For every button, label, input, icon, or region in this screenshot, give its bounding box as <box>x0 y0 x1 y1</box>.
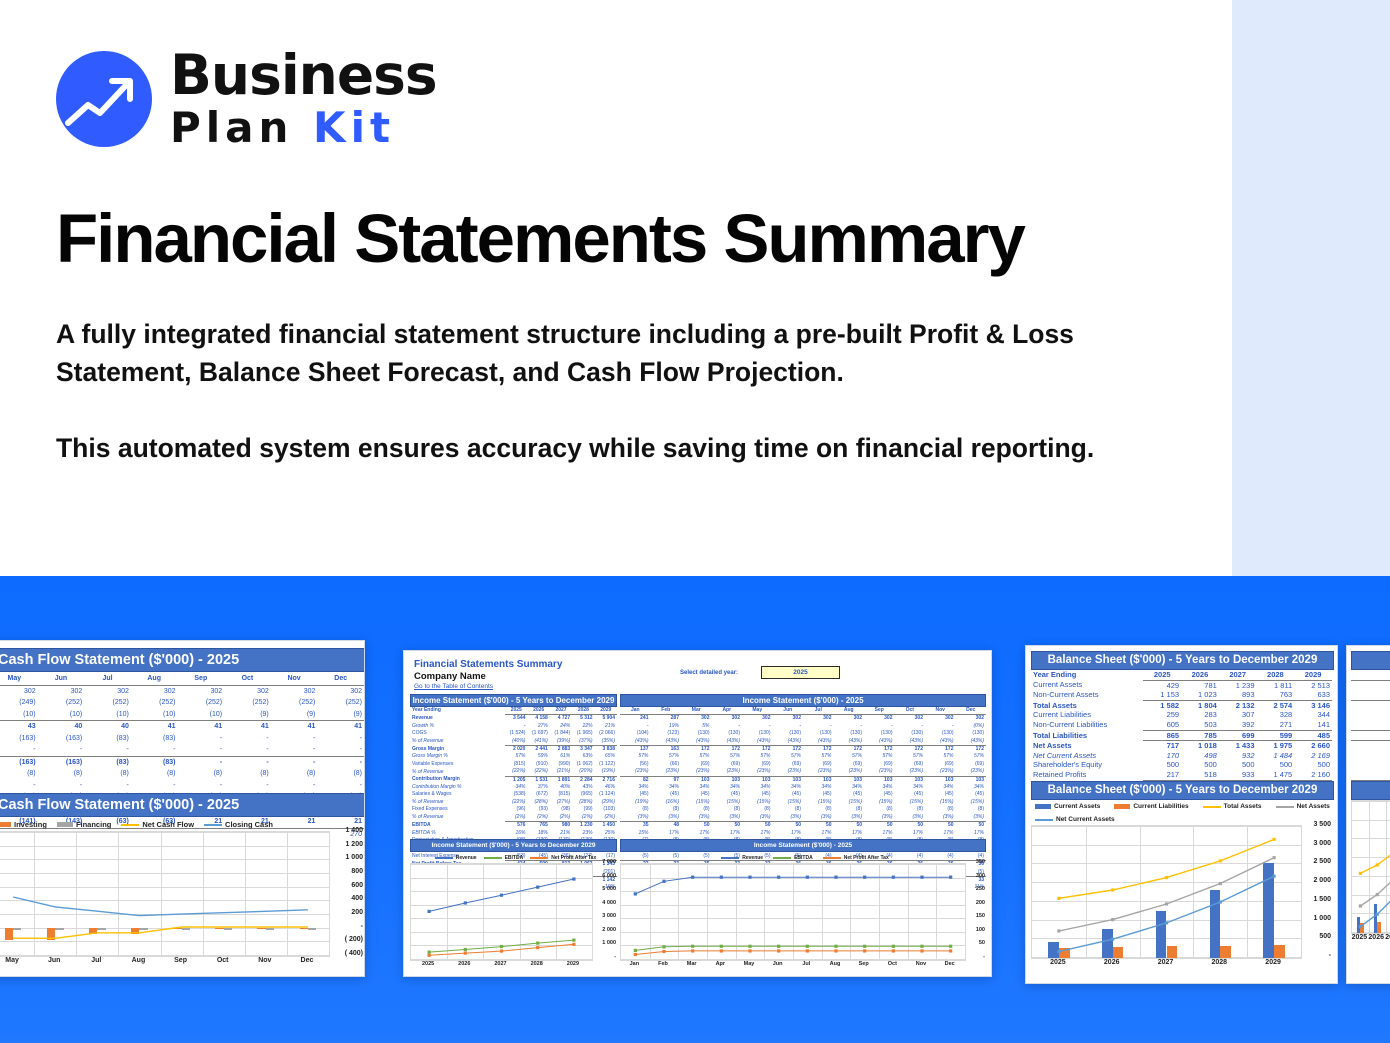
plot-frame <box>0 831 330 957</box>
table-cell: (123) <box>651 730 682 737</box>
table-cell: 429 <box>1143 680 1181 690</box>
table-cell: 43% <box>572 784 594 791</box>
table-cell: 699 <box>1219 730 1257 741</box>
table-cell: 1 531 <box>527 776 549 784</box>
x-axis-tick: Oct <box>202 957 244 964</box>
table-cell: - <box>505 723 527 730</box>
column-header: Apr <box>712 707 743 715</box>
table-row: 93 <box>1351 710 1390 720</box>
table-row: 4340404141414141 <box>0 721 364 733</box>
legend-swatch <box>530 857 548 859</box>
table-row: (45)(45)(45)(45)(45)(45)(45)(45)(45)(45)… <box>620 791 986 798</box>
table-cell: 5 904 <box>595 715 617 723</box>
table-cell: - <box>131 744 178 756</box>
table-cell: 172 <box>925 746 956 754</box>
table-cell: (252) <box>271 697 318 709</box>
table-cell: (69) <box>773 761 804 768</box>
table-cell: (3%) <box>895 814 926 822</box>
income-2025-table-title: Income Statement ($'000) - 2025 <box>620 694 986 707</box>
column-header: 2029 <box>1294 670 1332 680</box>
table-cell: 34% <box>895 784 926 791</box>
table-cell: 4 158 <box>527 715 549 723</box>
table-cell: 302 <box>742 715 773 723</box>
table-cell: (45) <box>773 791 804 798</box>
table-cell: (45) <box>895 791 926 798</box>
table-cell: 137 <box>620 746 651 754</box>
table-cell: 163 <box>651 746 682 754</box>
table-cell: 50 <box>895 822 926 830</box>
table-cell: 172 <box>742 746 773 754</box>
table-cell: (8) <box>864 806 895 813</box>
table-cell: - <box>0 744 38 756</box>
table-cell: (27%) <box>550 799 572 806</box>
table-cell: 1 174 <box>1351 680 1390 690</box>
x-axis-tick: Jun <box>763 961 792 967</box>
brand-plan-word: Plan <box>170 103 293 152</box>
chart-lines <box>1032 826 1301 958</box>
table-cell: - <box>834 723 865 730</box>
x-axis-tick: 2026 <box>1368 934 1385 941</box>
table-cell: (69) <box>864 761 895 768</box>
y-axis-tick: 2 500 <box>1302 858 1331 865</box>
table-cell: 302 <box>0 685 38 697</box>
brand-kit-word: Kit <box>313 103 395 152</box>
table-cell: (69) <box>834 761 865 768</box>
table-cell: (22%) <box>527 768 549 776</box>
table-cell: 50 <box>925 822 956 830</box>
table-cell: (19%) <box>620 799 651 806</box>
table-cell: - <box>620 723 651 730</box>
table-cell: 103 <box>712 776 743 784</box>
table-cell: 302 <box>178 685 225 697</box>
column-header: 2026 <box>1181 670 1219 680</box>
table-cell: 692 <box>1351 720 1390 730</box>
table-cell: (3%) <box>773 814 804 822</box>
table-cell: 24% <box>550 723 572 730</box>
table-cell: 302 <box>131 685 178 697</box>
legend-label: Net Current Assets <box>1056 816 1115 823</box>
table-cell: (3%) <box>834 814 865 822</box>
x-axis-tick: Jul <box>75 957 117 964</box>
table-cell: - <box>317 733 364 745</box>
legend-swatch <box>121 824 139 826</box>
table-cell: (45) <box>956 791 987 798</box>
x-axis-tick: Aug <box>821 961 850 967</box>
table-cell: (8) <box>895 806 926 813</box>
table-cell: 1 081 <box>1351 751 1390 761</box>
x-axis-tick: 2025 <box>410 961 446 967</box>
column-header: 2025 <box>505 707 527 715</box>
x-axis-tick: Feb <box>649 961 678 967</box>
table-cell: 172 <box>834 746 865 754</box>
table-cell: 17% <box>803 830 834 837</box>
table-cell: 3 146 <box>1294 700 1332 710</box>
table-row: EBITDA %16%18%21%23%25% <box>410 830 617 837</box>
row-label: Net Current Assets <box>1031 751 1143 761</box>
table-cell: (43%) <box>803 738 834 746</box>
legend-item: Financing <box>57 820 111 829</box>
table-cell: 50 <box>773 822 804 830</box>
table-cell: (10) <box>178 709 225 721</box>
table-cell: 4 727 <box>550 715 572 723</box>
table-cell: 25% <box>595 830 617 837</box>
table-cell: 1 018 <box>1181 741 1219 751</box>
table-cell: 50 <box>803 822 834 830</box>
table-cell: (3%) <box>925 814 956 822</box>
table-cell: (43%) <box>956 738 987 746</box>
table-cell: 103 <box>925 776 956 784</box>
table-cell: 103 <box>742 776 773 784</box>
table-cell: (15%) <box>803 799 834 806</box>
table-cell: 17% <box>712 830 743 837</box>
y-axis-tick: 3 500 <box>1302 821 1331 828</box>
x-axis-tick: 2027 <box>482 961 518 967</box>
table-row: Gross Margin %57%59%61%63%65% <box>410 753 617 760</box>
column-header: Jan <box>620 707 651 715</box>
table-cell: 5 312 <box>572 715 594 723</box>
x-axis-tick: May <box>0 957 33 964</box>
row-label: Gross Margin % <box>410 753 505 760</box>
table-cell: 283 <box>1181 710 1219 720</box>
table-cell: (16%) <box>651 799 682 806</box>
table-cell: (3%) <box>712 814 743 822</box>
row-label: % of Revenue <box>410 814 505 822</box>
table-row: Revenue3 5444 1584 7275 3125 904 <box>410 715 617 723</box>
table-cell: (990) <box>550 761 572 768</box>
table-cell: (3%) <box>620 814 651 822</box>
select-year-input[interactable]: 2025 <box>761 666 840 679</box>
legend-swatch <box>721 857 739 859</box>
y-axis-tick: 100 <box>966 927 985 933</box>
y-axis-tick: 2 000 <box>593 927 616 933</box>
table-cell: 271 <box>1257 720 1295 730</box>
table-cell: 500 <box>1181 760 1219 770</box>
cashflow-chart-title: Cash Flow Statement ($'000) - 2025 <box>0 793 365 817</box>
table-cell: 302 <box>925 715 956 723</box>
table-cell: (252) <box>131 697 178 709</box>
column-header: Feb <box>651 707 682 715</box>
row-label: EBITDA <box>410 822 505 830</box>
table-cell: (1 965) <box>572 730 594 737</box>
table-row: % of Revenue(22%)(22%)(21%)(20%)(19%) <box>410 768 617 776</box>
x-axis-tick: Jan <box>620 961 649 967</box>
table-cell: (3%) <box>681 814 712 822</box>
table-row: 137163172172172172172172172172172172 <box>620 746 986 754</box>
table-cell: - <box>224 733 271 745</box>
table-cell: (163) <box>38 756 85 768</box>
table-cell: (15%) <box>773 799 804 806</box>
column-header: 2028 <box>572 707 594 715</box>
legend-swatch <box>1276 806 1294 808</box>
column-header-label: Year Ending <box>1031 670 1143 680</box>
table-cell: 2 883 <box>550 746 572 754</box>
income-company-name: Company Name <box>414 671 486 682</box>
y-axis-tick: 3 000 <box>1302 840 1331 847</box>
y-axis-tick: - <box>593 954 616 960</box>
table-cell: (37%) <box>572 738 594 746</box>
table-row: (249)(252)(252)(252)(252)(252)(252)(252) <box>0 697 364 709</box>
chart-lines <box>1352 801 1390 933</box>
column-header: Jul <box>84 673 131 685</box>
table-cell: 1 230 <box>572 822 594 830</box>
table-cell: (1 524) <box>505 730 527 737</box>
table-cell: 34% <box>651 784 682 791</box>
balance-monthly-chart-title <box>1351 781 1390 800</box>
table-cell: (69) <box>712 761 743 768</box>
table-cell: 2 160 <box>1294 770 1332 780</box>
table-cell: (45) <box>864 791 895 798</box>
table-cell: 15% <box>620 830 651 837</box>
table-cell: (43%) <box>895 738 926 746</box>
y-axis-tick: 2 000 <box>1302 877 1331 884</box>
table-cell: (10) <box>0 709 38 721</box>
table-cell: 34% <box>956 784 987 791</box>
table-cell: (23%) <box>773 768 804 776</box>
table-row: Net Current Assets1704989321 4842 169 <box>1031 751 1332 761</box>
table-cell: 1 891 <box>550 776 572 784</box>
y-axis-tick: 400 <box>330 895 363 902</box>
table-cell: (8) <box>773 806 804 813</box>
table-cell: 1 153 <box>1143 690 1181 700</box>
table-cell: 103 <box>864 776 895 784</box>
table-cell: 57% <box>712 753 743 760</box>
legend-item: Revenue <box>435 855 477 861</box>
table-cell: (23%) <box>803 768 834 776</box>
table-cell: 765 <box>527 822 549 830</box>
table-cell: (69) <box>803 761 834 768</box>
row-label: Net Assets <box>1031 741 1143 751</box>
table-cell: (69) <box>895 761 926 768</box>
legend-label: Revenue <box>742 855 763 861</box>
table-cell: - <box>773 723 804 730</box>
cashflow-chart: InvestingFinancingNet Cash FlowClosing C… <box>0 817 364 975</box>
table-cell: 57% <box>505 753 527 760</box>
table-cell: (20%) <box>572 768 594 776</box>
table-cell: (83) <box>84 733 131 745</box>
table-cell: 1 023 <box>1181 690 1219 700</box>
table-cell: 576 <box>505 822 527 830</box>
table-cell: 328 <box>1257 710 1295 720</box>
table-cell: 57% <box>834 753 865 760</box>
y-axis-tick: - <box>330 923 363 930</box>
table-cell: (45) <box>834 791 865 798</box>
table-cell: - <box>224 744 271 756</box>
table-cell: (1 122) <box>595 761 617 768</box>
x-axis-tick: 2027 <box>1139 959 1193 966</box>
table-cell: (252) <box>84 697 131 709</box>
table-cell: 302 <box>681 715 712 723</box>
table-cell: - <box>224 780 271 792</box>
y-axis-tick: 5 000 <box>593 886 616 892</box>
table-cell: 933 <box>1219 770 1257 780</box>
table-cell: 57% <box>651 753 682 760</box>
legend-label: Net Profit After Tax <box>551 855 596 861</box>
table-row: 1 081 <box>1351 751 1390 761</box>
table-row: Contribution Margin1 2051 5311 8912 2842… <box>410 776 617 784</box>
row-label: Salaries & Wages <box>410 791 505 798</box>
table-cell: 12 <box>1351 770 1390 780</box>
table-cell: (1 062) <box>572 761 594 768</box>
table-cell: (45) <box>681 791 712 798</box>
y-axis-tick: 50 <box>966 940 985 946</box>
table-cell: 1 475 <box>1257 770 1295 780</box>
row-label: Fixed Expenses <box>410 806 505 813</box>
table-row: EBITDA5767659801 2301 450 <box>410 822 617 830</box>
legend-swatch <box>0 822 11 827</box>
table-cell: 1 450 <box>595 822 617 830</box>
table-cell: 57% <box>895 753 926 760</box>
table-cell: (15%) <box>681 799 712 806</box>
table-cell: (23%) <box>681 768 712 776</box>
table-cell: 599 <box>1257 730 1295 741</box>
column-header: Nov <box>271 673 318 685</box>
table-cell: 43 <box>0 721 38 733</box>
balance-plot-area: 3 5003 0002 5002 0001 5001 000500-202520… <box>1031 825 1332 975</box>
table-cell: (28%) <box>572 799 594 806</box>
table-row: % of Revenue(22%)(28%)(27%)(28%)(29%) <box>410 799 617 806</box>
table-cell: 3 838 <box>595 746 617 754</box>
table-cell: 172 <box>681 746 712 754</box>
legend-swatch <box>823 857 841 859</box>
x-axis-tick: Mar <box>677 961 706 967</box>
table-cell: - <box>84 744 131 756</box>
table-cell: 717 <box>1143 741 1181 751</box>
table-row: (56)(66)(69)(69)(69)(69)(69)(69)(69)(69)… <box>620 761 986 768</box>
table-cell: (130) <box>742 730 773 737</box>
table-cell: - <box>271 744 318 756</box>
table-cell: 41 <box>131 721 178 733</box>
table-cell: 2 574 <box>1257 700 1295 710</box>
table-cell: (15%) <box>712 799 743 806</box>
table-cell: (98) <box>550 806 572 813</box>
x-axis-tick: 2026 <box>1085 959 1139 966</box>
table-cell: (43%) <box>712 738 743 746</box>
table-cell: 1 582 <box>1143 700 1181 710</box>
table-cell: (3%) <box>742 814 773 822</box>
table-cell: 19% <box>651 723 682 730</box>
table-cell: 48 <box>651 822 682 830</box>
table-cell: (15%) <box>925 799 956 806</box>
row-label: Gross Margin <box>410 746 505 754</box>
table-cell: - <box>0 780 38 792</box>
table-of-contents-link[interactable]: Go to the Table of Contents <box>414 683 493 690</box>
column-header: Jul <box>803 707 834 715</box>
table-cell: (15%) <box>864 799 895 806</box>
table-cell: 3 544 <box>505 715 527 723</box>
legend-label: Current Liabilities <box>1133 803 1188 810</box>
legend-swatch <box>773 857 791 859</box>
y-axis-tick: ( 200) <box>330 936 363 943</box>
screenshot-balance-card[interactable]: Balance Sheet ($'000) - 5 Years to Decem… <box>1025 645 1338 984</box>
table-cell: 1 804 <box>1181 700 1219 710</box>
table-cell: (69) <box>681 761 712 768</box>
table-cell: (43%) <box>651 738 682 746</box>
table-cell: (43%) <box>864 738 895 746</box>
table-row: Non-Current Liabilities605503392271141 <box>1031 720 1332 730</box>
screenshot-cashflow-card[interactable]: Cash Flow Statement ($'000) - 2025 MayJu… <box>0 640 365 977</box>
legend-swatch <box>1035 819 1053 821</box>
table-cell: (43%) <box>834 738 865 746</box>
x-axis-tick: 2028 <box>519 961 555 967</box>
table-cell: 50 <box>864 822 895 830</box>
table-cell: (8) <box>956 806 987 813</box>
table-cell: 41 <box>271 721 318 733</box>
table-cell: 500 <box>1351 760 1390 770</box>
table-cell: (45) <box>651 791 682 798</box>
legend-label: Net Cash Flow <box>142 820 194 829</box>
table-cell: (66) <box>651 761 682 768</box>
table-cell: (815) <box>505 761 527 768</box>
legend-item: EBITDA <box>773 855 813 861</box>
table-row: % of Revenue(40%)(41%)(39%)(37%)(35%) <box>410 738 617 746</box>
table-cell: 392 <box>1219 720 1257 730</box>
y-axis-tick: 150 <box>966 913 985 919</box>
chart-lines <box>411 864 592 960</box>
table-cell: (15%) <box>895 799 926 806</box>
table-cell: - <box>864 723 895 730</box>
table-row: Retained Profits2175189331 4752 160 <box>1031 770 1332 780</box>
balance-monthly-chart: 3 5003 0002 5002 0001 5001 000500-202520… <box>1351 800 1390 978</box>
table-cell: (9) <box>224 709 271 721</box>
table-cell: 40% <box>550 784 572 791</box>
plot-frame <box>1351 800 1390 934</box>
y-axis-tick: 1 000 <box>330 854 363 861</box>
table-cell: (3%) <box>956 814 987 822</box>
table-cell: 498 <box>1181 751 1219 761</box>
table-cell: 34% <box>742 784 773 791</box>
table-row: (163)(163)(83)(83)---- <box>0 733 364 745</box>
legend-swatch <box>1035 804 1051 809</box>
legend-item: Current Assets <box>1035 803 1100 810</box>
column-header: 2028 <box>1257 670 1295 680</box>
table-cell: (8) <box>803 806 834 813</box>
table-cell: (8) <box>681 806 712 813</box>
table-row: 500 <box>1351 760 1390 770</box>
table-cell: 172 <box>956 746 987 754</box>
table-cell: (163) <box>0 756 38 768</box>
table-cell: - <box>317 744 364 756</box>
table-cell: (130) <box>712 730 743 737</box>
balance-monthly-table: Jan1 1741241 297936927865121 08150012512 <box>1351 670 1390 790</box>
table-row: Non-Current Assets1 1531 023893763633 <box>1031 690 1332 700</box>
table-cell: (96) <box>505 806 527 813</box>
table-row: Variable Expenses(815)(910)(990)(1 062)(… <box>410 761 617 768</box>
table-cell: 141 <box>1294 720 1332 730</box>
screenshot-income-card[interactable]: Financial Statements Summary Company Nam… <box>403 650 992 977</box>
table-cell: 500 <box>1257 760 1295 770</box>
y-axis-tick: 7 000 <box>593 859 616 865</box>
table-cell: (40%) <box>505 738 527 746</box>
y-axis-tick: - <box>1302 952 1331 959</box>
legend-item: Net Profit After Tax <box>530 855 596 861</box>
table-cell: (163) <box>0 733 38 745</box>
table-cell: (3%) <box>803 814 834 822</box>
income-2025-plot-area: 35030025020015010050-JanFebMarAprMayJunJ… <box>620 863 986 973</box>
screenshot-balance-monthly-card[interactable]: Jan1 1741241 297936927865121 08150012512… <box>1346 645 1390 984</box>
table-cell: 763 <box>1257 690 1295 700</box>
table-cell: (23%) <box>742 768 773 776</box>
column-header: Jun <box>773 707 804 715</box>
table-cell: 41 <box>224 721 271 733</box>
table-row: 34%34%34%34%34%34%34%34%34%34%34%34% <box>620 784 986 791</box>
x-axis-tick: 2027 <box>1385 934 1390 941</box>
table-cell: 172 <box>864 746 895 754</box>
table-cell: 172 <box>712 746 743 754</box>
cashflow-table-title: Cash Flow Statement ($'000) - 2025 <box>0 648 365 672</box>
table-cell: 1 297 <box>1351 700 1390 710</box>
table-cell: (22%) <box>505 799 527 806</box>
brand-line-2: Plan Kit <box>170 107 437 149</box>
